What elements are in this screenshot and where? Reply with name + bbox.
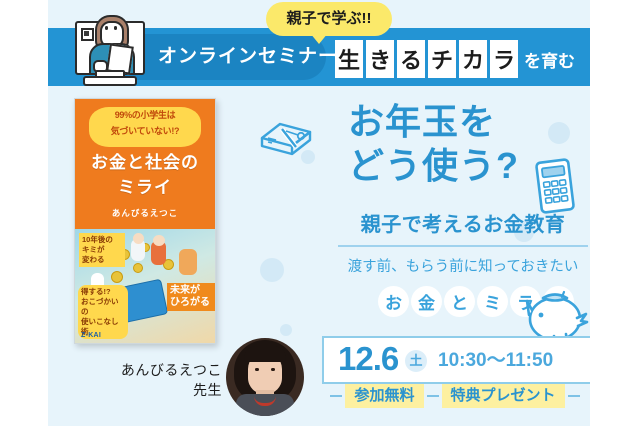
book-tag-top-l2: キミが bbox=[82, 245, 105, 254]
book-catchcopy-line1: 99%の小学生は bbox=[89, 109, 201, 121]
book-tag-mid-l1: 得する!? bbox=[81, 287, 111, 296]
online-seminar-label: オンラインセミナー bbox=[158, 44, 328, 70]
keyword-pill: お bbox=[378, 286, 409, 317]
oyako-bubble-label: 親子で学ぶ!! bbox=[266, 8, 392, 30]
book-tag-mid: 得する!? おこづかいの 使いこなし術 bbox=[78, 285, 128, 339]
presenter-name-line1: あんびるえつこ bbox=[121, 362, 222, 378]
book-cover: 99%の小学生は 気づいていない!? お金と社会の ミライ あんびるえつこ bbox=[74, 98, 216, 344]
bg-dot bbox=[280, 324, 292, 336]
kanji-box: チ bbox=[428, 40, 456, 78]
book-catchcopy-line2: 気づいていない!? bbox=[89, 125, 201, 137]
ikiru-chikara-suffix: を育む bbox=[524, 52, 575, 72]
book-title-line1: お金と社会の bbox=[75, 151, 215, 174]
book-tag-right-l2: ひろがる bbox=[170, 297, 210, 308]
kanji-box: 生 bbox=[335, 40, 363, 78]
book-tag-right: 未来が ひろがる bbox=[167, 283, 215, 311]
presenter-name-line2: 先生 bbox=[193, 382, 222, 398]
ikiru-chikara-boxes: 生 き る チ カ ラ bbox=[335, 40, 518, 78]
badge-dash bbox=[427, 395, 439, 397]
poster-root: オンラインセミナー 親子で学ぶ!! 生 き る チ カ ラ を育む 99%の小学… bbox=[0, 0, 640, 426]
kanji-box: る bbox=[397, 40, 425, 78]
book-illustration: 10年後の キミが 変わる 得する!? おこづかいの 使いこなし術 未来が ひろ… bbox=[75, 229, 215, 343]
book-tag-right-l1: 未来が bbox=[170, 285, 200, 296]
badge-gift: 特典プレゼント bbox=[442, 384, 565, 408]
event-date: 12.6 bbox=[338, 340, 398, 378]
keyword-pill: と bbox=[444, 286, 475, 317]
book-publisher: Z-KAI bbox=[81, 332, 101, 339]
hero-line-1: お年玉を bbox=[348, 101, 496, 142]
kanji-box: ラ bbox=[490, 40, 518, 78]
poster-card: オンラインセミナー 親子で学ぶ!! 生 き る チ カ ラ を育む 99%の小学… bbox=[48, 0, 590, 426]
oyako-bubble-tail bbox=[310, 33, 328, 44]
book-tag-top-l1: 10年後の bbox=[82, 235, 113, 244]
book-title-line2: ミライ bbox=[75, 176, 215, 199]
book-tag-mid-l2: おこづかいの bbox=[81, 297, 119, 316]
presenter-avatar bbox=[226, 338, 304, 416]
lead-text: 渡す前、もらう前に知っておきたい bbox=[336, 256, 590, 278]
kanji-box: カ bbox=[459, 40, 487, 78]
kanji-box: き bbox=[366, 40, 394, 78]
keyword-pill: 金 bbox=[411, 286, 442, 317]
book-author: あんびるえつこ bbox=[75, 207, 215, 219]
badge-free: 参加無料 bbox=[345, 384, 423, 408]
online-seminar-presenter-icon bbox=[75, 13, 147, 83]
calculator-icon bbox=[532, 158, 578, 214]
money-bundle-icon bbox=[258, 112, 314, 160]
keyword-pill: ミ bbox=[477, 286, 508, 317]
book-tag-top-l3: 変わる bbox=[82, 255, 105, 264]
book-tag-top: 10年後の キミが 変わる bbox=[79, 233, 125, 267]
badge-dash bbox=[330, 395, 342, 397]
schedule-badges: 参加無料 特典プレゼント bbox=[322, 384, 588, 408]
subtitle-divider bbox=[338, 245, 588, 247]
badge-dash bbox=[568, 395, 580, 397]
bg-dot bbox=[260, 258, 284, 282]
event-time: 10:30〜11:50 bbox=[438, 348, 553, 374]
subtitle: 親子で考えるお金教育 bbox=[336, 212, 590, 238]
event-day-of-week: 土 bbox=[405, 350, 427, 372]
presenter-name: あんびるえつこ 先生 bbox=[92, 360, 222, 400]
